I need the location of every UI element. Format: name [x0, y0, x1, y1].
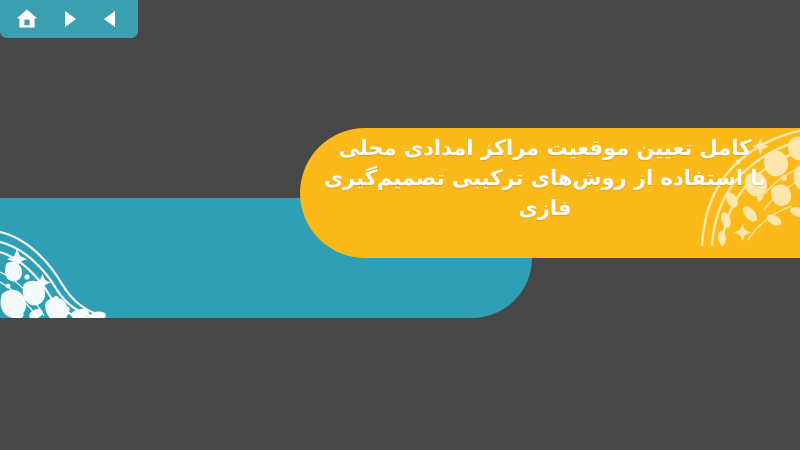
forward-button[interactable] [54, 4, 84, 34]
forward-arrow-icon [58, 8, 80, 30]
home-icon [15, 7, 39, 31]
home-button[interactable] [12, 4, 42, 34]
navigation-bar [0, 0, 138, 38]
arabesque-ornament-teal [0, 198, 165, 318]
presentation-slide: کامل تعیین موقعیت مراکز امدادی محلی با ا… [0, 0, 800, 450]
orange-title-band [300, 128, 800, 258]
back-arrow-icon [100, 8, 122, 30]
arabesque-ornament-orange [640, 128, 800, 246]
back-button[interactable] [96, 4, 126, 34]
